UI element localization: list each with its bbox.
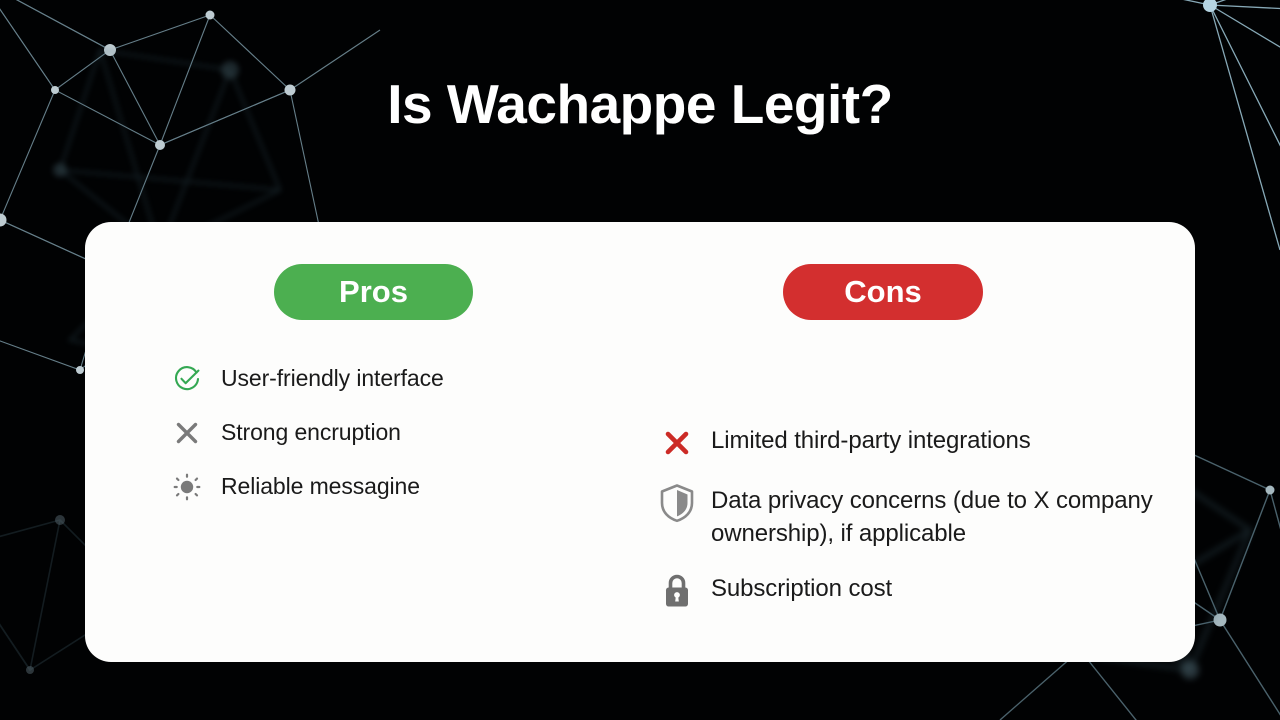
list-item-label: Reliable messagine — [221, 470, 420, 502]
list-item-label: User-friendly interface — [221, 362, 444, 394]
shield-icon — [655, 484, 699, 522]
slide-canvas: Is Wachappe Legit? Pros Cons User-friend… — [0, 0, 1280, 720]
lock-icon — [655, 572, 699, 610]
cons-badge: Cons — [783, 264, 983, 320]
list-item-label: Data privacy concerns (due to X company … — [711, 484, 1165, 550]
list-item: User-friendly interface — [165, 362, 595, 396]
list-item-label: Subscription cost — [711, 572, 892, 605]
list-item-label: Limited third-party integrations — [711, 424, 1031, 457]
pros-list: User-friendly interface Strong encruptio… — [165, 362, 595, 524]
list-item: Strong encruption — [165, 416, 595, 450]
check-circle-icon — [165, 362, 209, 396]
list-item: Data privacy concerns (due to X company … — [655, 484, 1165, 550]
pros-badge-label: Pros — [339, 274, 408, 310]
list-item: Subscription cost — [655, 572, 1165, 610]
x-mark-icon — [655, 424, 699, 462]
cons-badge-label: Cons — [844, 274, 922, 310]
list-item: Limited third-party integrations — [655, 424, 1165, 462]
pros-badge: Pros — [274, 264, 473, 320]
pros-cons-card: Pros Cons User-friendly interface — [85, 222, 1195, 662]
brightness-sun-icon — [165, 470, 209, 504]
x-mark-icon — [165, 416, 209, 450]
list-item-label: Strong encruption — [221, 416, 401, 448]
list-item: Reliable messagine — [165, 470, 595, 504]
page-title: Is Wachappe Legit? — [0, 76, 1280, 134]
cons-list: Limited third-party integrations Data pr… — [655, 424, 1165, 632]
